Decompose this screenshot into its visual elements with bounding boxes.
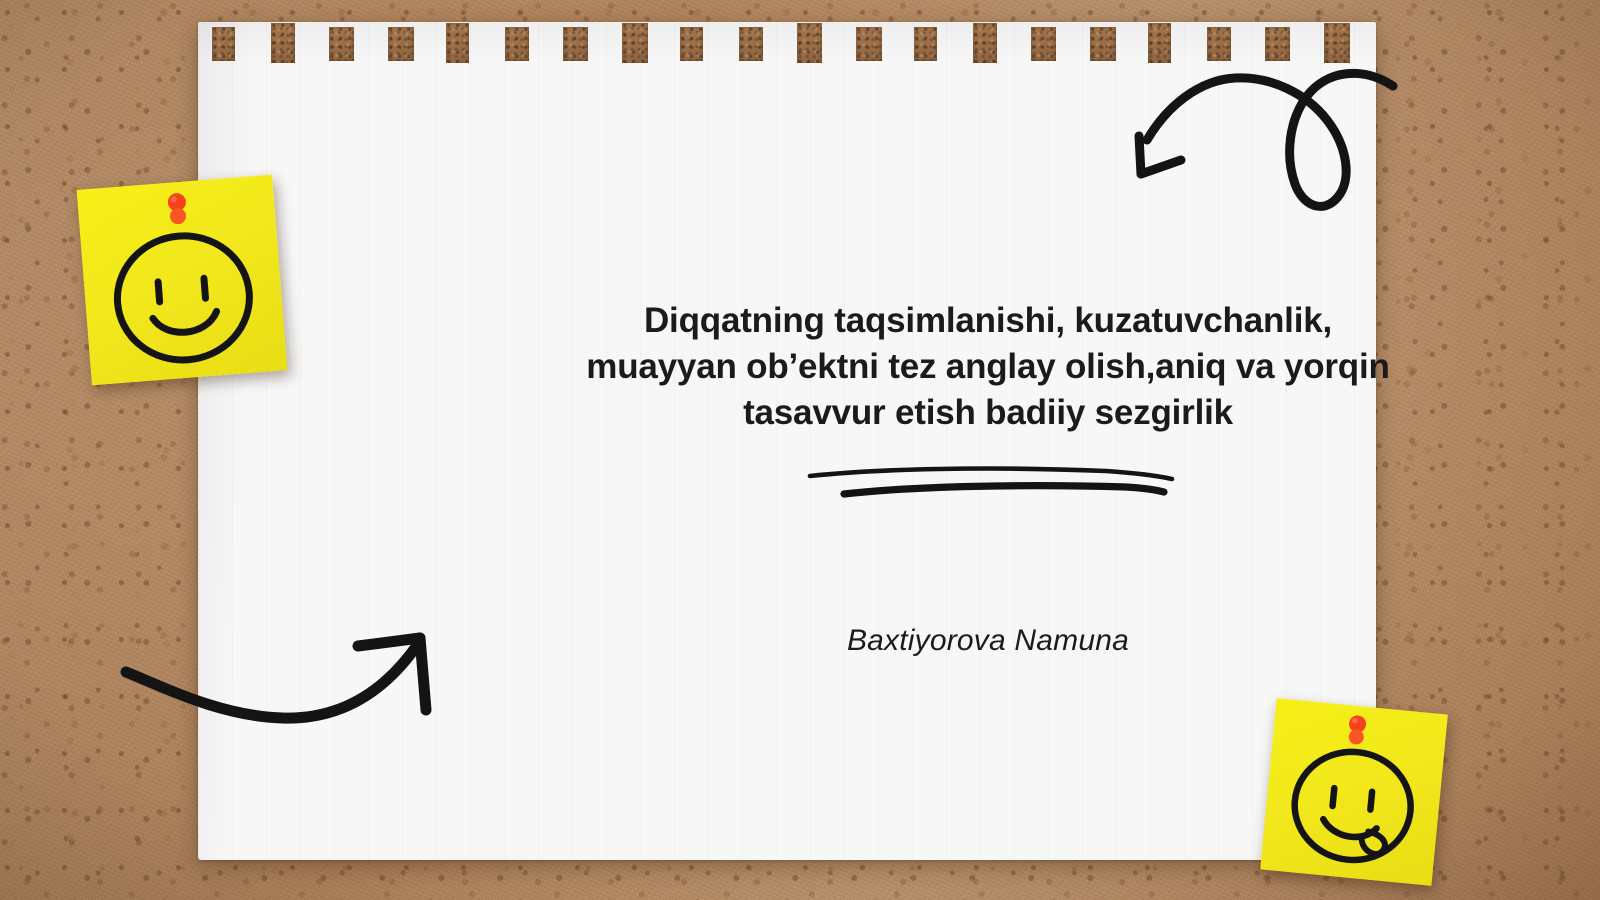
- torn-edge-hole: [271, 23, 295, 63]
- torn-notebook-edge: [198, 22, 1376, 68]
- torn-edge-hole: [212, 27, 235, 61]
- torn-edge-hole: [973, 23, 997, 63]
- title-line-1: Diqqatning taqsimlanishi, kuzatuvchanlik…: [458, 298, 1518, 344]
- torn-edge-hole: [1265, 27, 1290, 61]
- torn-edge-hole: [505, 27, 529, 61]
- red-pushpin-icon: [1342, 713, 1371, 749]
- torn-edge-hole: [329, 27, 354, 61]
- paper-shading: [198, 22, 1376, 860]
- paper-ruled-lines: [198, 22, 1376, 860]
- title-line-3: tasavvur etish badiiy sezgirlik: [458, 390, 1518, 436]
- page-title: Diqqatning taqsimlanishi, kuzatuvchanlik…: [458, 298, 1518, 436]
- torn-edge-hole: [1148, 23, 1171, 63]
- torn-edge-hole: [739, 27, 763, 61]
- torn-edge-hole: [388, 27, 414, 61]
- sticky-note-bottom-right[interactable]: [1260, 698, 1448, 886]
- torn-edge-hole: [680, 27, 703, 61]
- torn-edge-hole: [797, 23, 822, 63]
- torn-edge-hole: [1324, 23, 1350, 63]
- torn-edge-hole: [914, 27, 937, 61]
- title-line-2: muayyan ob’ektni tez anglay olish,aniq v…: [458, 344, 1518, 390]
- red-pushpin-icon: [163, 191, 192, 227]
- sticky-note-top-left[interactable]: [77, 175, 288, 386]
- notebook-paper-sheet: Diqqatning taqsimlanishi, kuzatuvchanlik…: [198, 22, 1376, 860]
- torn-edge-hole: [1207, 27, 1231, 61]
- presentation-slide: Diqqatning taqsimlanishi, kuzatuvchanlik…: [0, 0, 1600, 900]
- title-underline-doodle: [806, 454, 1176, 506]
- author-name: Baxtiyorova Namuna: [658, 624, 1318, 658]
- torn-edge-hole: [856, 27, 882, 61]
- torn-edge-hole: [1031, 27, 1056, 61]
- torn-edge-hole: [1090, 27, 1116, 61]
- torn-edge-hole: [563, 27, 588, 61]
- torn-edge-hole: [446, 23, 469, 63]
- torn-edge-hole: [622, 23, 648, 63]
